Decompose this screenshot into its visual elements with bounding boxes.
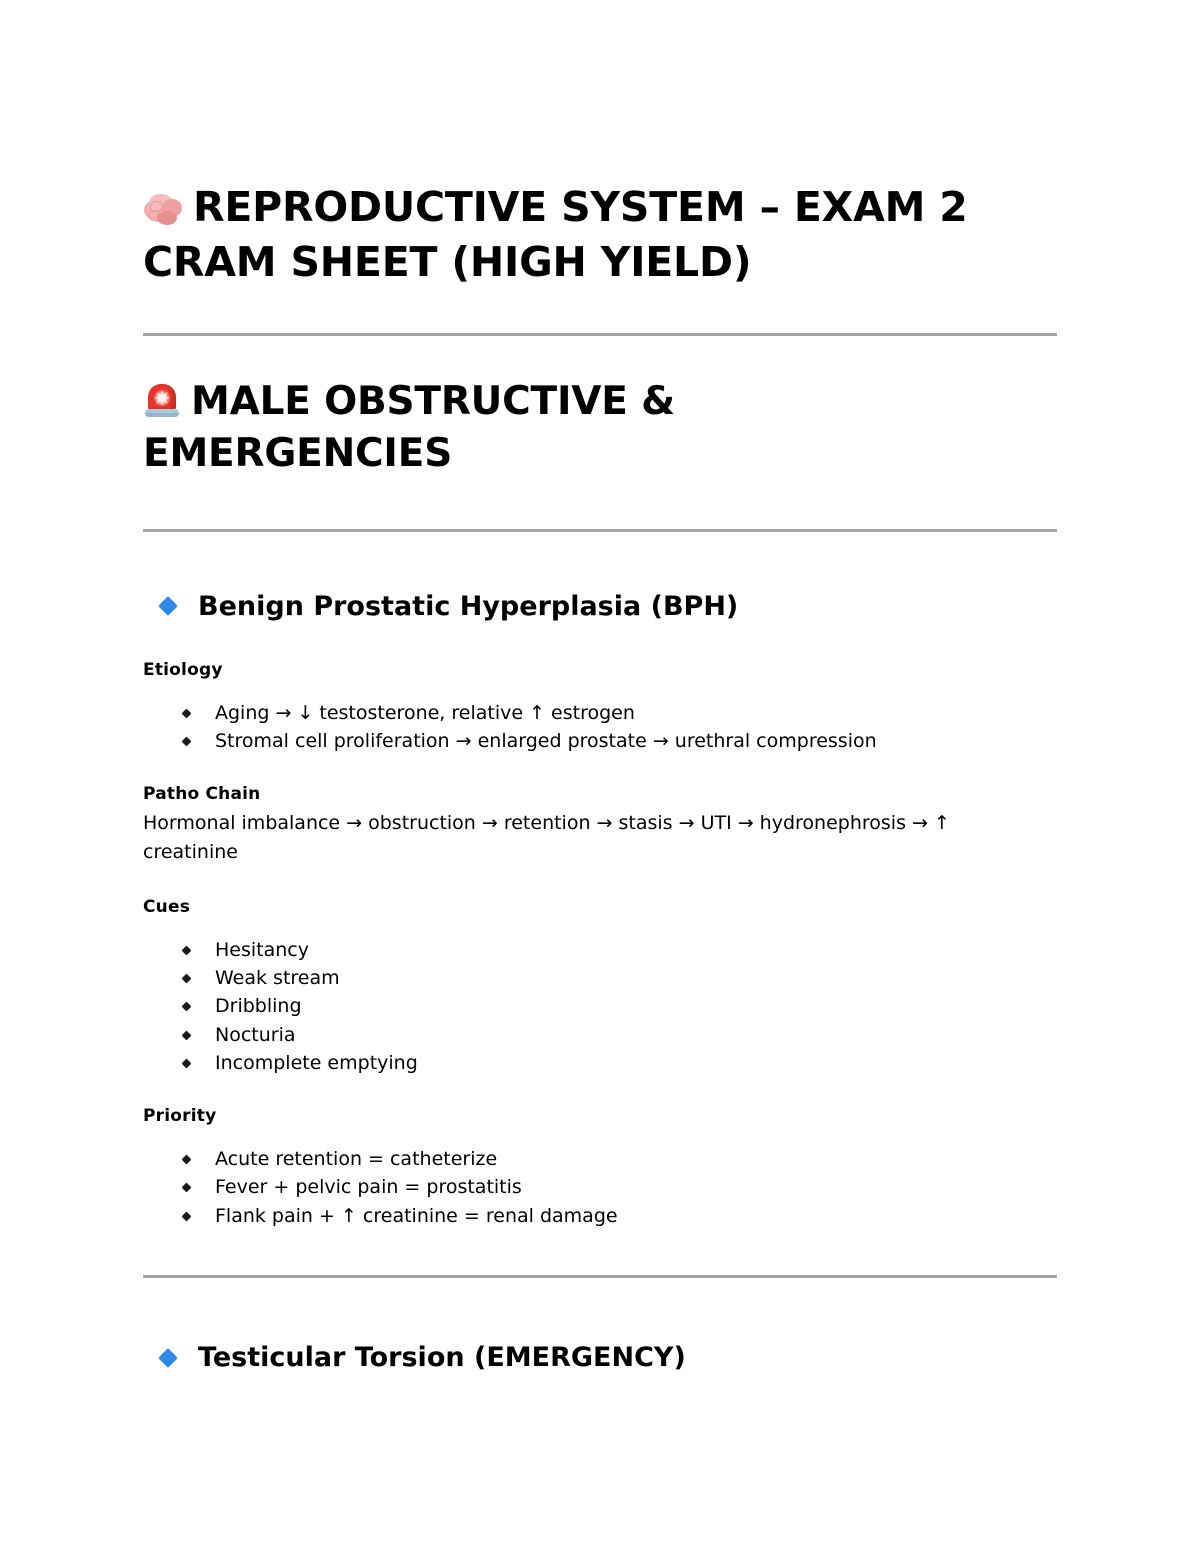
patho-chain-text: Hormonal imbalance → obstruction → reten… [143,809,1003,866]
list-item: Fever + pelvic pain = prostatitis [143,1173,1057,1201]
block-label-priority: Priority [143,1105,1057,1129]
block-label-patho-chain: Patho Chain [143,783,1057,807]
page-title: REPRODUCTIVE SYSTEM – EXAM 2 CRAM SHEET … [143,180,1023,289]
topic-heading-bph: Benign Prostatic Hyperplasia (BPH) [143,589,1057,624]
section-heading-text: MALE OBSTRUCTIVE & EMERGENCIES [143,379,675,476]
section-heading: MALE OBSTRUCTIVE & EMERGENCIES [143,376,843,480]
list-item: Acute retention = catheterize [143,1145,1057,1173]
etiology-list: Aging → ↓ testosterone, relative ↑ estro… [143,699,1057,756]
list-item: Nocturia [143,1021,1057,1049]
rotating-light-icon [143,382,181,420]
list-item: Aging → ↓ testosterone, relative ↑ estro… [143,699,1057,727]
list-item: Flank pain + ↑ creatinine = renal damage [143,1202,1057,1230]
page-title-text: REPRODUCTIVE SYSTEM – EXAM 2 CRAM SHEET … [143,183,968,286]
cues-list: Hesitancy Weak stream Dribbling Nocturia… [143,936,1057,1077]
topic-heading-bph-text: Benign Prostatic Hyperplasia (BPH) [198,591,738,622]
topic-heading-testicular-torsion: Testicular Torsion (EMERGENCY) [143,1340,1057,1375]
topic-heading-testicular-torsion-text: Testicular Torsion (EMERGENCY) [198,1342,686,1373]
block-label-cues: Cues [143,896,1057,920]
list-item: Stromal cell proliferation → enlarged pr… [143,727,1057,755]
list-item: Incomplete emptying [143,1049,1057,1077]
list-item: Dribbling [143,992,1057,1020]
list-item: Weak stream [143,964,1057,992]
priority-list: Acute retention = catheterize Fever + pe… [143,1145,1057,1230]
brain-icon [143,193,183,227]
document-page: REPRODUCTIVE SYSTEM – EXAM 2 CRAM SHEET … [0,0,1200,1553]
block-label-etiology: Etiology [143,659,1057,683]
list-item: Hesitancy [143,936,1057,964]
